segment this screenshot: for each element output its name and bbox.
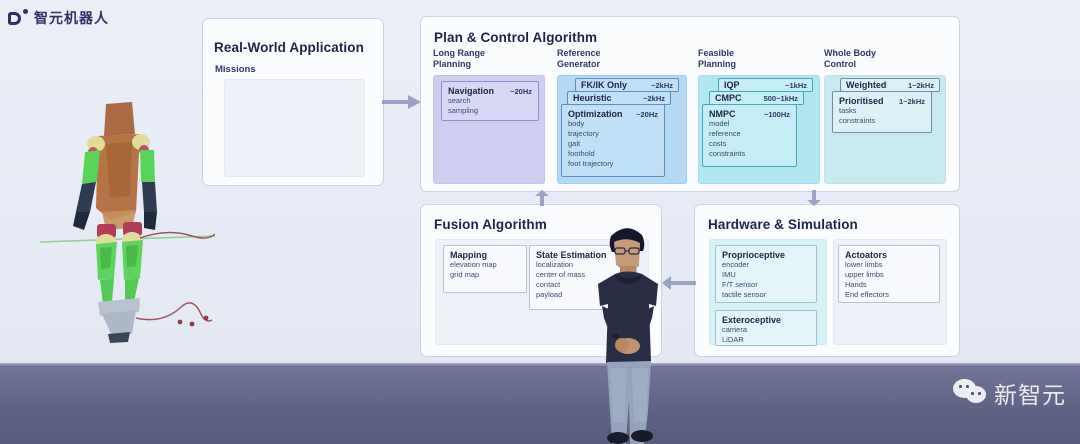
card-item: foothold bbox=[568, 149, 658, 159]
card-name: Actoators bbox=[845, 250, 887, 260]
card-item: body bbox=[568, 119, 658, 129]
floor-edge bbox=[0, 363, 1080, 366]
card-item: constraints bbox=[839, 116, 925, 126]
card-cmpc[interactable]: CMPC 500~1kHz bbox=[709, 91, 804, 105]
card-name: Exteroceptive bbox=[722, 315, 781, 325]
card-item: gait bbox=[568, 139, 658, 149]
card-item: F/T sensor bbox=[722, 280, 810, 290]
column-label-long-range: Long Range Planning bbox=[433, 48, 485, 70]
card-item: Hands bbox=[845, 280, 933, 290]
card-item: constraints bbox=[709, 149, 790, 159]
brand-logo-text: 智元机器人 bbox=[34, 8, 109, 28]
card-mapping[interactable]: Mapping elevation map grid map bbox=[443, 245, 527, 293]
column-label-reference-generator: Reference Generator bbox=[557, 48, 601, 70]
wechat-icon bbox=[953, 379, 987, 407]
card-fk-ik-only[interactable]: FK/IK Only ~2kHz bbox=[575, 78, 679, 92]
brand-logo: 智元机器人 bbox=[8, 8, 109, 28]
watermark-text: 新智元 bbox=[994, 376, 1066, 410]
card-item: grid map bbox=[450, 270, 520, 280]
card-item: tasks bbox=[839, 106, 925, 116]
card-navigation[interactable]: Navigation ~20Hz search sampling bbox=[441, 81, 539, 121]
card-item: lower limbs bbox=[845, 260, 933, 270]
card-exteroceptive[interactable]: Exteroceptive camera LiDAR bbox=[715, 310, 817, 346]
card-item: IMU bbox=[722, 270, 810, 280]
card-frequency: ~1kHz bbox=[785, 81, 807, 90]
card-name: FK/IK Only bbox=[581, 80, 627, 90]
card-frequency: 500~1kHz bbox=[764, 94, 798, 103]
arrow-fusion-to-plan bbox=[534, 190, 550, 206]
card-frequency: ~2kHz bbox=[651, 81, 673, 90]
card-item: costs bbox=[709, 139, 790, 149]
card-name: Heuristic bbox=[573, 93, 612, 103]
card-proprioceptive[interactable]: Proprioceptive encoder IMU F/T sensor ta… bbox=[715, 245, 817, 303]
card-frequency: 1~2kHz bbox=[899, 97, 925, 106]
card-name: CMPC bbox=[715, 93, 742, 103]
stage-floor bbox=[0, 363, 1080, 444]
column-label-feasible-planning: Feasible Planning bbox=[698, 48, 736, 70]
card-name: Prioritised bbox=[839, 96, 884, 106]
card-optimization[interactable]: Optimization ~20Hz body trajectory gait … bbox=[561, 104, 665, 177]
card-name: Proprioceptive bbox=[722, 250, 785, 260]
wechat-watermark: 新智元 bbox=[953, 376, 1066, 410]
card-item: trajectory bbox=[568, 129, 658, 139]
card-name: NMPC bbox=[709, 109, 736, 119]
column-label-whole-body-control: Whole Body Control bbox=[824, 48, 876, 70]
card-name: IQP bbox=[724, 80, 740, 90]
panel-real-world-application[interactable]: Real-World Application Missions Action l… bbox=[202, 18, 384, 186]
arrow-plan-to-hardware bbox=[806, 190, 822, 206]
panel-title: Plan & Control Algorithm bbox=[434, 30, 597, 45]
card-item: tactile sensor bbox=[722, 290, 810, 300]
card-item: End effectors bbox=[845, 290, 933, 300]
card-item: foot trajectory bbox=[568, 159, 658, 169]
arrow-app-to-plan bbox=[382, 94, 422, 110]
card-item: sampling bbox=[448, 106, 532, 116]
card-heuristic[interactable]: Heuristic ~2kHz bbox=[567, 91, 671, 105]
card-iqp[interactable]: IQP ~1kHz bbox=[718, 78, 813, 92]
panel-subtitle: Missions bbox=[215, 64, 256, 76]
panel-title: Fusion Algorithm bbox=[434, 217, 547, 232]
humanoid-robot-simulation bbox=[40, 96, 215, 346]
card-name: Navigation bbox=[448, 86, 494, 96]
panel-title: Real-World Application bbox=[214, 40, 364, 55]
card-item: upper limbs bbox=[845, 270, 933, 280]
card-nmpc[interactable]: NMPC ~100Hz model reference costs constr… bbox=[702, 104, 797, 167]
card-name: Mapping bbox=[450, 250, 487, 260]
card-frequency: ~20Hz bbox=[510, 87, 532, 96]
card-item: LiDAR bbox=[722, 335, 810, 345]
card-frequency: ~20Hz bbox=[636, 110, 658, 119]
panel-hardware-simulation[interactable]: Hardware & Simulation Proprioceptive enc… bbox=[694, 204, 960, 357]
panel-title: Hardware & Simulation bbox=[708, 217, 858, 232]
agibot-logo-icon bbox=[8, 9, 28, 27]
card-item: search bbox=[448, 96, 532, 106]
card-frequency: 1~2kHz bbox=[908, 81, 934, 90]
card-item: model bbox=[709, 119, 790, 129]
card-weighted[interactable]: Weighted 1~2kHz bbox=[840, 78, 940, 92]
card-frequency: ~100Hz bbox=[764, 110, 790, 119]
card-item: encoder bbox=[722, 260, 810, 270]
card-item: reference bbox=[709, 129, 790, 139]
card-actuators[interactable]: Actoators lower limbs upper limbs Hands … bbox=[838, 245, 940, 303]
card-name: Weighted bbox=[846, 80, 886, 90]
card-item: elevation map bbox=[450, 260, 520, 270]
card-item: camera bbox=[722, 325, 810, 335]
card-frequency: ~2kHz bbox=[643, 94, 665, 103]
card-prioritised[interactable]: Prioritised 1~2kHz tasks constraints bbox=[832, 91, 932, 133]
card-name: Optimization bbox=[568, 109, 623, 119]
group-missions bbox=[224, 79, 365, 177]
panel-plan-control-algorithm[interactable]: Plan & Control Algorithm Long Range Plan… bbox=[420, 16, 960, 192]
presenter-speaker bbox=[582, 222, 674, 444]
